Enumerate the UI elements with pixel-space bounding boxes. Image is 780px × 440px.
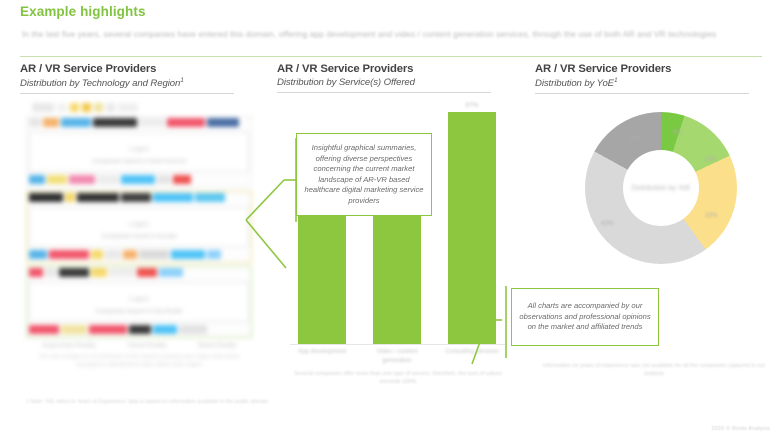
landscape-caption-na: Logos Companies based in North America	[32, 137, 246, 167]
donut-slice-label: 17%	[628, 135, 640, 142]
landscape-caption-eu-small: Logos	[32, 219, 246, 228]
donut-slice-label: 22%	[705, 212, 717, 219]
market-landscape-image: Logos Companies based in North America	[26, 103, 252, 385]
bar-value-label: 97%	[448, 102, 496, 109]
donut-slice-label: 5%	[673, 129, 682, 136]
landscape-logo-band	[27, 249, 251, 262]
column-2-header: AR / VR Service Providers Distribution b…	[277, 63, 515, 93]
bar-group: 62%	[298, 196, 346, 344]
column-2-divider	[277, 92, 491, 93]
column-1-header: AR / VR Service Providers Distribution b…	[20, 63, 258, 94]
donut-chart-note: Information on years of experience was n…	[540, 362, 768, 378]
column-3-divider	[535, 93, 749, 94]
donut-chart: Distribution by YoE 5% 13% 22% 43% 17%	[585, 112, 737, 264]
callout-left-connector	[244, 128, 304, 224]
callout-left: Insightful graphical summaries, offering…	[296, 133, 432, 216]
column-3-subtitle-text: Distribution by YoE	[535, 78, 614, 89]
callout-right-text: All charts are accompanied by our observ…	[519, 301, 651, 333]
column-1-divider	[20, 93, 234, 94]
landscape-logo-band	[27, 174, 251, 187]
column-1-subtitle-text: Distribution by Technology and Region	[20, 78, 180, 89]
landscape-top-chips	[26, 103, 252, 112]
page-title: Example highlights	[20, 4, 146, 19]
landscape-panel-north-america: Logos Companies based in North America	[26, 116, 252, 188]
landscape-caption-ap: Logos Companies based in Asia-Pacific	[32, 287, 246, 317]
landscape-caption-ap-small: Logos	[32, 294, 246, 303]
donut-slice-label: 13%	[704, 156, 716, 163]
callout-left-text: Insightful graphical summaries, offering…	[304, 143, 424, 206]
landscape-legend-item: Mixed Reality	[198, 342, 236, 349]
landscape-panel-europe: Logos Companies based in Europe	[26, 191, 252, 263]
column-1-footnote-marker: 1	[180, 77, 184, 84]
donut-center-label: Distribution by YoE	[632, 184, 691, 193]
donut-center-hole: Distribution by YoE	[623, 150, 699, 226]
landscape-logo-band	[27, 267, 251, 280]
landscape-caption-na-text: Companies based in North America	[92, 159, 186, 165]
column-3-title: AR / VR Service Providers	[535, 63, 773, 75]
landscape-logo-band	[27, 117, 251, 130]
column-2-subtitle-text: Distribution by Service(s) Offered	[277, 77, 415, 88]
header-divider	[20, 56, 762, 57]
landscape-panel-asia-pacific: Logos Companies based in Asia-Pacific	[26, 266, 252, 338]
bar-axis-label: App development	[286, 348, 358, 357]
column-1-subtitle: Distribution by Technology and Region1	[20, 77, 258, 89]
column-1-title: AR / VR Service Providers	[20, 63, 258, 75]
bar-chart-note: Several companies offer more than one ty…	[292, 370, 504, 386]
column-2-title: AR / VR Service Providers	[277, 63, 515, 75]
landscape-logo-band	[27, 324, 251, 337]
callout-right-connector	[458, 282, 516, 368]
landscape-caption-eu: Logos Companies based in Europe	[32, 212, 246, 242]
landscape-caption-box: Logos Companies based in North America	[29, 132, 249, 172]
column-3-header: AR / VR Service Providers Distribution b…	[535, 63, 773, 94]
callout-right: All charts are accompanied by our observ…	[511, 288, 659, 346]
landscape-caption-ap-text: Companies based in Asia-Pacific	[95, 309, 182, 315]
column-2-subtitle: Distribution by Service(s) Offered	[277, 77, 515, 88]
landscape-legend-item: Augmented Reality	[42, 342, 96, 349]
landscape-caption-na-small: Logos	[32, 144, 246, 153]
page-subtitle: In the last five years, several companie…	[22, 28, 762, 41]
column-3-footnote-marker: 1	[614, 77, 618, 84]
landscape-logo-band	[27, 192, 251, 205]
bar-axis-label: Video / content generation	[361, 348, 433, 365]
bar	[298, 196, 346, 344]
landscape-caption-box: Logos Companies based in Europe	[29, 207, 249, 247]
landscape-legend-item: Virtual Reality	[127, 342, 166, 349]
landscape-caption-box: Logos Companies based in Asia-Pacific	[29, 282, 249, 322]
landscape-legend: Augmented Reality Virtual Reality Mixed …	[26, 342, 252, 349]
slide-canvas: Example highlights In the last five year…	[0, 0, 780, 440]
column-3-subtitle: Distribution by YoE1	[535, 77, 773, 89]
donut-slice-label: 43%	[601, 220, 613, 227]
copyright-text: 2020 © Roots Analysis	[711, 426, 770, 432]
landscape-caption-eu-text: Companies based in Europe	[101, 234, 177, 240]
landscape-note: The size of logos is not indicative of t…	[26, 353, 252, 369]
slide-footnote: 1 Note: YoE refers to Years of Experienc…	[26, 398, 276, 406]
